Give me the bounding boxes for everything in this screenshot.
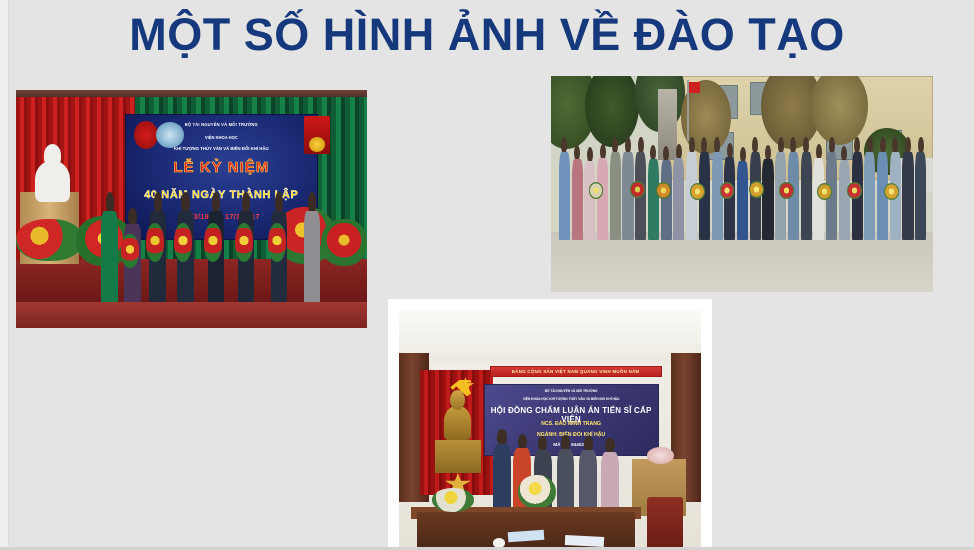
stage-header-bar xyxy=(16,90,367,97)
banner-ministry-line: BỘ TÀI NGUYÊN VÀ MÔI TRƯỜNG xyxy=(485,389,658,393)
bouquet xyxy=(589,182,604,199)
bouquet xyxy=(817,183,832,200)
courtyard-ground xyxy=(551,232,933,292)
award-recipients-group xyxy=(100,192,353,301)
photo-thesis-defense[interactable]: ĐẢNG CỘNG SẢN VIỆT NAM QUANG VINH MUÔN N… xyxy=(388,299,712,550)
person xyxy=(302,192,321,301)
bouquet xyxy=(690,183,705,200)
person xyxy=(571,145,583,240)
person xyxy=(100,192,119,301)
left-margin-strip xyxy=(0,0,9,550)
person xyxy=(556,435,575,514)
person xyxy=(673,144,685,240)
banner-headline-1: LỄ KỶ NIỆM xyxy=(126,159,317,176)
ho-chi-minh-bust xyxy=(35,161,70,201)
person xyxy=(270,192,289,301)
bouquet xyxy=(518,475,556,509)
page-title: MỘT SỐ HÌNH ẢNH VỀ ĐÀO TẠO xyxy=(0,6,974,64)
bouquet xyxy=(656,182,671,199)
flower-vase xyxy=(647,447,674,464)
bouquet xyxy=(268,223,286,262)
person xyxy=(864,137,876,241)
person xyxy=(579,436,598,514)
medal-emblem-icon xyxy=(304,116,330,154)
bust-pedestal xyxy=(435,440,480,474)
person xyxy=(206,192,225,301)
bouquet xyxy=(630,181,645,198)
person xyxy=(800,137,812,241)
bouquet xyxy=(121,234,139,268)
person xyxy=(148,192,167,301)
bouquet xyxy=(174,223,192,262)
person xyxy=(559,137,571,241)
photo-defense-content: ĐẢNG CỘNG SẢN VIỆT NAM QUANG VINH MUÔN N… xyxy=(399,310,701,550)
party-slogan-text: ĐẢNG CỘNG SẢN VIỆT NAM QUANG VINH MUÔN N… xyxy=(512,369,640,374)
person xyxy=(915,137,927,241)
person xyxy=(176,192,195,301)
party-slogan-banner: ĐẢNG CỘNG SẢN VIỆT NAM QUANG VINH MUÔN N… xyxy=(490,366,662,377)
table-flowers xyxy=(432,488,474,512)
banner-department-line: KHÍ TƯỢNG THỦY VĂN VÀ BIẾN ĐỔI KHÍ HẬU xyxy=(126,146,317,151)
photo-group-content xyxy=(551,76,933,292)
flower-basket-left xyxy=(16,219,83,262)
person xyxy=(237,192,256,301)
bouquet xyxy=(847,182,862,199)
photo-group-outdoor[interactable] xyxy=(551,76,933,292)
room-ceiling xyxy=(399,310,701,363)
photo-ceremony-content: BỘ TÀI NGUYÊN VÀ MÔI TRƯỜNG VIỆN KHOA HỌ… xyxy=(16,90,367,328)
person xyxy=(737,147,749,240)
person xyxy=(902,137,914,241)
council-members xyxy=(493,432,620,514)
photo-ceremony[interactable]: BỘ TÀI NGUYÊN VÀ MÔI TRƯỜNG VIỆN KHOA HỌ… xyxy=(16,90,367,328)
person xyxy=(609,137,621,241)
bouquet xyxy=(720,182,735,199)
person xyxy=(600,438,619,514)
banner-institute-line: VIỆN KHOA HỌC KHÍ TƯỢNG THỦY VĂN VÀ BIẾN… xyxy=(485,397,658,401)
bouquet xyxy=(884,183,899,200)
group-of-staff xyxy=(555,137,929,241)
stage-floor-front xyxy=(16,302,367,328)
banner-candidate-name: NCS. ĐÀO MINH TRANG xyxy=(485,421,658,427)
chair xyxy=(647,497,683,550)
person xyxy=(123,208,142,302)
person xyxy=(493,429,512,514)
bouquet xyxy=(235,223,253,262)
national-flag xyxy=(689,82,700,93)
golden-bust xyxy=(444,406,471,440)
person xyxy=(762,145,774,240)
document-paper xyxy=(565,535,605,547)
